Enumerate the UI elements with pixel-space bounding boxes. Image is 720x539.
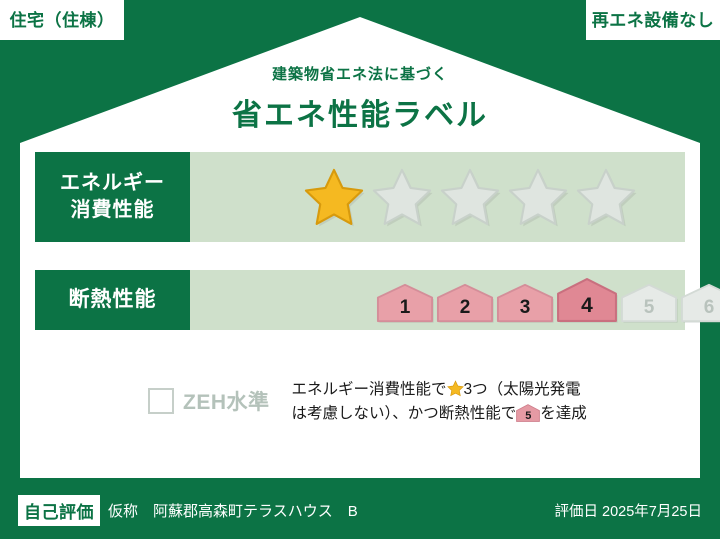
star-empty-icon (507, 167, 569, 227)
insulation-level-chip-on: 4 (556, 277, 618, 323)
insulation-level-number: 5 (620, 297, 678, 319)
inline-star-icon (447, 380, 464, 397)
insulation-level-number: 2 (436, 297, 494, 319)
footer-left: 自己評価 仮称 阿蘇郡高森町テラスハウス B (18, 495, 358, 526)
energy-key-line-2: 消費性能 (71, 197, 155, 224)
tag-building-type-label: 住宅（住棟） (10, 12, 115, 29)
inline-house-chip-icon: 5 (516, 404, 540, 422)
zeh-desc-part3: を達成 (540, 405, 587, 422)
building-name: 仮称 阿蘇郡高森町テラスハウス B (108, 500, 358, 521)
insulation-level-scale: 1234567 (376, 277, 720, 323)
insulation-level-chip-on: 1 (376, 283, 434, 323)
zeh-label: ZEH水準 (183, 386, 270, 416)
zeh-description: エネルギー消費性能で 3つ（太陽光発電 は考慮しない）、かつ断熱性能で 5 を達… (292, 378, 587, 426)
insulation-key-label: 断熱性能 (69, 286, 157, 314)
star-filled-icon (303, 167, 365, 227)
footer-bar: 自己評価 仮称 阿蘇郡高森町テラスハウス B 評価日 2025年7月25日 (0, 481, 720, 539)
energy-key-line-1: エネルギー (60, 170, 165, 197)
insulation-performance-value: 1234567 (190, 270, 720, 330)
insulation-level-chip-on: 2 (436, 283, 494, 323)
zeh-standard-row: ZEH水準 エネルギー消費性能で 3つ（太陽光発電 は考慮しない）、かつ断熱性能… (148, 378, 648, 426)
title-block: 建築物省エネ法に基づく 省エネ性能ラベル (0, 63, 720, 134)
page-title: 省エネ性能ラベル (0, 90, 720, 134)
insulation-level-chip-off: 5 (620, 283, 678, 323)
title-subtitle: 建築物省エネ法に基づく (0, 63, 720, 84)
energy-performance-value (190, 152, 685, 242)
insulation-performance-key: 断熱性能 (35, 270, 190, 330)
insulation-level-number: 6 (680, 297, 720, 319)
inline-chip-number: 5 (516, 411, 540, 422)
tag-renewable-energy: 再エネ設備なし (586, 0, 720, 40)
star-empty-icon (575, 167, 637, 227)
zeh-checkbox-icon (148, 388, 174, 414)
insulation-level-number: 1 (376, 297, 434, 319)
insulation-level-chip-off: 6 (680, 283, 720, 323)
star-rating (303, 167, 637, 227)
insulation-level-number: 4 (556, 294, 618, 318)
star-empty-icon (439, 167, 501, 227)
energy-performance-label: 住宅（住棟） 再エネ設備なし 建築物省エネ法に基づく 省エネ性能ラベル エネルギ… (0, 0, 720, 539)
evaluation-type-badge: 自己評価 (18, 495, 100, 526)
zeh-desc-part1: エネルギー消費性能で (292, 381, 447, 398)
tag-renewable-energy-label: 再エネ設備なし (592, 12, 715, 29)
insulation-level-number: 3 (496, 297, 554, 319)
zeh-badge: ZEH水準 (148, 386, 270, 416)
star-empty-icon (371, 167, 433, 227)
evaluation-date: 評価日 2025年7月25日 (555, 500, 702, 521)
energy-performance-row: エネルギー 消費性能 (35, 152, 685, 242)
insulation-performance-row: 断熱性能 1234567 (35, 270, 685, 330)
zeh-desc-part2: は考慮しない）、かつ断熱性能で (292, 405, 517, 422)
insulation-level-chip-on: 3 (496, 283, 554, 323)
tag-building-type: 住宅（住棟） (0, 0, 124, 40)
zeh-desc-star-count: 3つ（太陽光発電 (464, 381, 581, 398)
energy-performance-key: エネルギー 消費性能 (35, 152, 190, 242)
